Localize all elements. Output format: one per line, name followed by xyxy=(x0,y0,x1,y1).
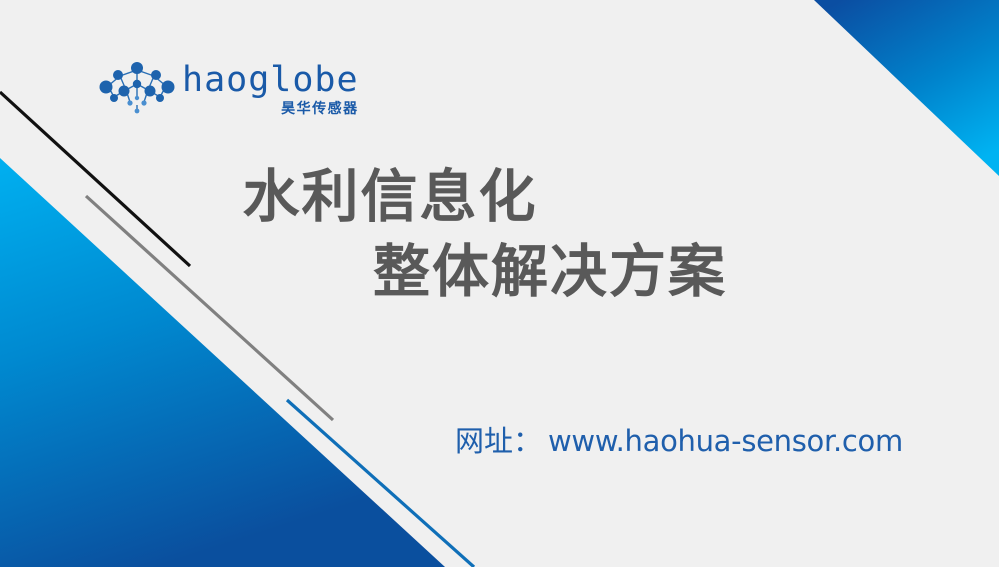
network-nodes-logo-icon xyxy=(96,60,178,118)
website-url[interactable]: www.haohua-sensor.com xyxy=(548,424,903,458)
blue-diagonal-line xyxy=(287,400,474,567)
company-logo: haoglobe 昊华传感器 xyxy=(96,58,322,120)
page-title: 水利信息化 整体解决方案 xyxy=(0,160,940,310)
top-right-blue-triangle xyxy=(814,0,999,176)
website-line: 网址： www.haohua-sensor.com xyxy=(455,418,903,460)
website-label: 网址： xyxy=(455,418,542,460)
logo-sub-wordmark: 昊华传感器 xyxy=(281,102,359,116)
title-line-2: 整体解决方案 xyxy=(0,235,940,310)
logo-wordmark: haoglobe xyxy=(182,63,359,98)
presentation-slide: haoglobe 昊华传感器 水利信息化 整体解决方案 网址： www.haoh… xyxy=(0,0,999,567)
logo-text: haoglobe 昊华传感器 xyxy=(182,63,359,116)
title-line-1: 水利信息化 xyxy=(0,160,940,235)
